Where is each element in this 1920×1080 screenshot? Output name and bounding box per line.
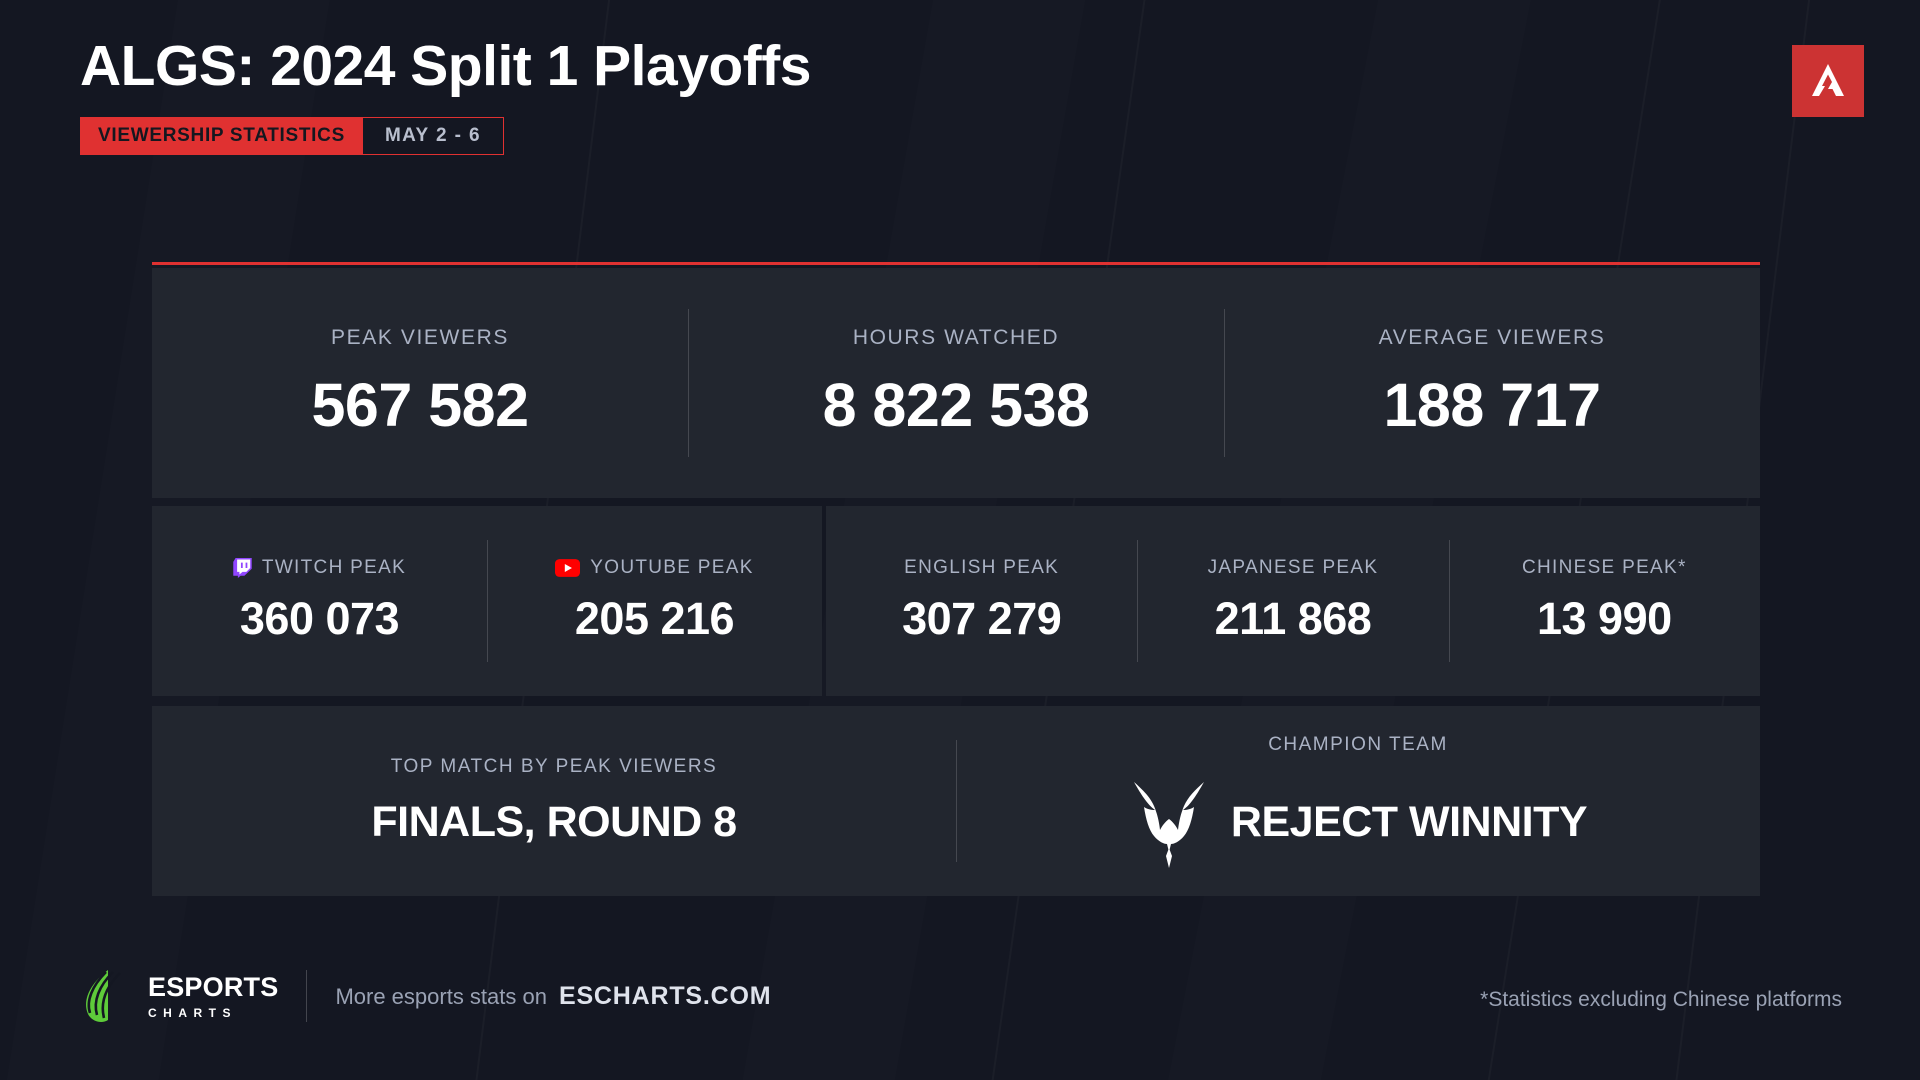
badge-row: VIEWERSHIP STATISTICS MAY 2 - 6 — [80, 117, 811, 155]
esports-charts-leaf-icon — [80, 968, 134, 1024]
footer-promo-text: More esports stats on — [335, 984, 547, 1010]
date-range-badge: MAY 2 - 6 — [363, 117, 504, 155]
stat-english-peak: ENGLISH PEAK 307 279 — [826, 506, 1137, 696]
primary-stats-panel: PEAK VIEWERS 567 582 HOURS WATCHED 8 822… — [152, 268, 1760, 498]
esports-charts-wordmark: ESPORTS CHARTS — [148, 974, 278, 1019]
header: ALGS: 2024 Split 1 Playoffs VIEWERSHIP S… — [80, 34, 811, 155]
stat-value: 211 868 — [1215, 593, 1372, 645]
stat-label: JAPANESE PEAK — [1208, 557, 1379, 579]
champion-team-name: REJECT WINNITY — [1231, 798, 1587, 847]
stat-value: 188 717 — [1384, 370, 1601, 440]
apex-legends-logo — [1792, 45, 1864, 117]
highlight-champion-team: CHAMPION TEAM REJECT WINNITY — [956, 706, 1760, 896]
twitch-icon — [233, 558, 252, 578]
accent-rule — [152, 262, 1760, 265]
stat-label: AVERAGE VIEWERS — [1379, 326, 1606, 350]
reject-winnity-logo — [1129, 776, 1209, 868]
stat-label: CHINESE PEAK* — [1522, 557, 1687, 579]
stat-twitch-peak: TWITCH PEAK 360 073 — [152, 506, 487, 696]
apex-chevron-icon — [1803, 56, 1853, 106]
highlight-label: CHAMPION TEAM — [1268, 734, 1448, 756]
platform-stats-panel: TWITCH PEAK 360 073 YOUTUBE PEAK 205 216 — [152, 506, 822, 696]
stat-value: 567 582 — [312, 370, 529, 440]
highlight-value: FINALS, ROUND 8 — [371, 798, 736, 847]
statistics-badge: VIEWERSHIP STATISTICS — [80, 117, 363, 155]
stat-youtube-peak: YOUTUBE PEAK 205 216 — [487, 506, 822, 696]
footer-left-group: ESPORTS CHARTS More esports stats on ESC… — [80, 968, 771, 1024]
stat-label: PEAK VIEWERS — [331, 326, 509, 350]
brand-subtitle: CHARTS — [148, 1007, 278, 1019]
brand-name: ESPORTS — [148, 974, 278, 1001]
stat-value: 8 822 538 — [823, 370, 1090, 440]
footer-divider — [306, 970, 307, 1022]
stat-peak-viewers: PEAK VIEWERS 567 582 — [152, 268, 688, 498]
stat-average-viewers: AVERAGE VIEWERS 188 717 — [1224, 268, 1760, 498]
stat-label-with-icon: TWITCH PEAK — [233, 557, 406, 579]
stat-value: 307 279 — [902, 593, 1061, 645]
footer-promo: More esports stats on ESCHARTS.COM — [335, 982, 771, 1011]
language-stats-panel: ENGLISH PEAK 307 279 JAPANESE PEAK 211 8… — [826, 506, 1760, 696]
page-title: ALGS: 2024 Split 1 Playoffs — [80, 34, 811, 100]
stat-label: ENGLISH PEAK — [904, 557, 1059, 579]
stat-value: 13 990 — [1537, 593, 1672, 645]
viewership-statistics-infographic: ALGS: 2024 Split 1 Playoffs VIEWERSHIP S… — [0, 0, 1920, 1080]
stat-label-text: TWITCH PEAK — [262, 557, 406, 579]
champion-row: REJECT WINNITY — [1129, 776, 1587, 868]
highlight-label: TOP MATCH BY PEAK VIEWERS — [391, 756, 717, 778]
stat-label-with-icon: YOUTUBE PEAK — [555, 557, 753, 579]
highlight-top-match: TOP MATCH BY PEAK VIEWERS FINALS, ROUND … — [152, 706, 956, 896]
footer-disclaimer: *Statistics excluding Chinese platforms — [1480, 988, 1842, 1012]
stat-value: 360 073 — [240, 593, 399, 645]
stat-hours-watched: HOURS WATCHED 8 822 538 — [688, 268, 1224, 498]
stat-label: HOURS WATCHED — [853, 326, 1059, 350]
youtube-icon — [555, 559, 580, 577]
stat-value: 205 216 — [575, 593, 734, 645]
stat-chinese-peak: CHINESE PEAK* 13 990 — [1449, 506, 1760, 696]
stat-japanese-peak: JAPANESE PEAK 211 868 — [1137, 506, 1448, 696]
stat-label-text: YOUTUBE PEAK — [590, 557, 753, 579]
footer: ESPORTS CHARTS More esports stats on ESC… — [0, 962, 1920, 1042]
esports-charts-logo[interactable]: ESPORTS CHARTS — [80, 968, 278, 1024]
footer-domain-link[interactable]: ESCHARTS.COM — [559, 982, 771, 1011]
highlights-panel: TOP MATCH BY PEAK VIEWERS FINALS, ROUND … — [152, 706, 1760, 896]
